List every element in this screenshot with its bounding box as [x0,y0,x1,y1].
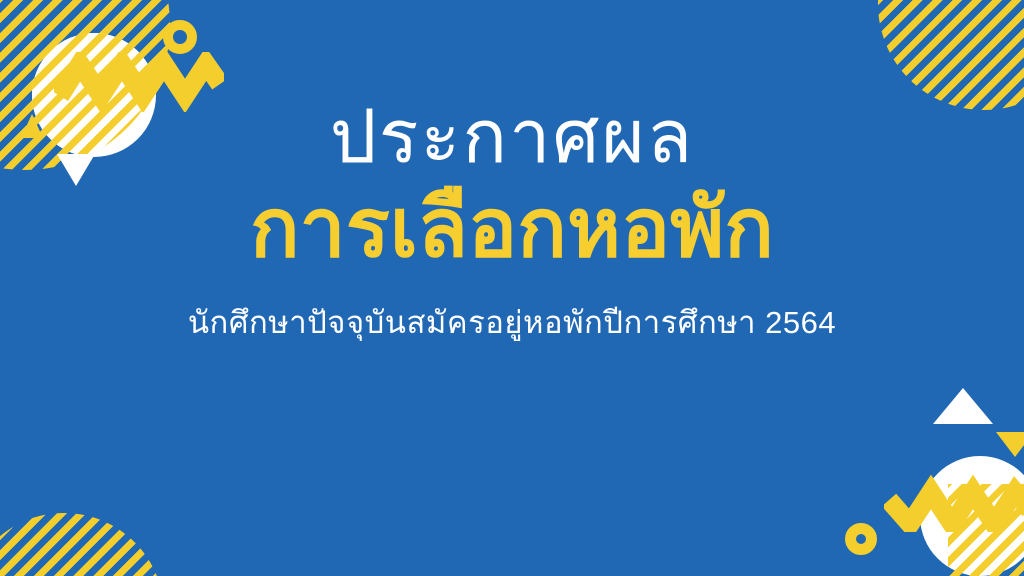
page-title-line2: การเลือกหอพัก [0,188,1024,270]
ring-top-left [163,20,197,54]
white-triangle-up-bottom-right [933,388,993,424]
yellow-triangle-down-bottom-right [996,432,1024,457]
page-title-line1: ประกาศผล [0,100,1024,188]
zigzag-bottom-right [884,470,1024,532]
striped-circle-bottom-left [0,513,164,576]
announcement-slide: ประกาศผล การเลือกหอพัก นักศึกษาปัจจุบันส… [0,0,1024,576]
headline-block: ประกาศผล การเลือกหอพัก นักศึกษาปัจจุบันส… [0,100,1024,341]
ring-bottom-right [845,523,877,555]
striped-circle-top-right [878,0,1024,110]
page-subtitle: นักศึกษาปัจจุบันสมัครอยู่หอพักปีการศึกษา… [0,270,1024,341]
